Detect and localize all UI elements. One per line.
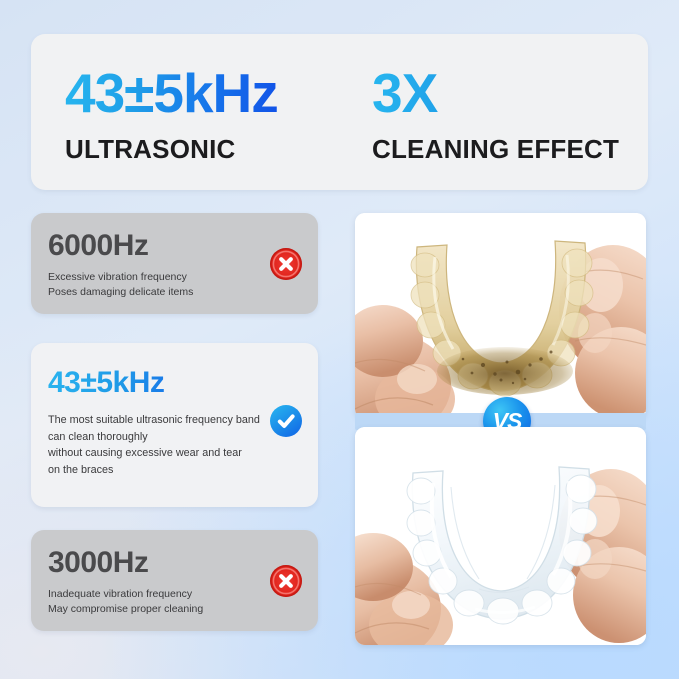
card-title: 43±5kHz [48, 368, 252, 398]
card-title: 6000Hz [48, 231, 252, 261]
card-desc-line: can clean thoroughly [48, 429, 252, 446]
card-desc-line: Excessive vibration frequency [48, 270, 252, 285]
infographic-page: 43±5kHz ULTRASONIC 3X CLEANING EFFECT 60… [0, 0, 679, 679]
card-title: 3000Hz [48, 548, 252, 578]
header-cleaning-value: 3X [372, 66, 619, 121]
card-description: Inadequate vibration frequency May compr… [48, 587, 252, 617]
card-desc-line: on the braces [48, 462, 252, 479]
card-desc-line: The most suitable ultrasonic frequency b… [48, 412, 252, 429]
checkmark-icon [270, 405, 302, 437]
card-content: 3000Hz Inadequate vibration frequency Ma… [48, 530, 252, 617]
card-content: 6000Hz Excessive vibration frequency Pos… [48, 213, 252, 300]
header-stat-ultrasonic: 43±5kHz ULTRASONIC [65, 34, 278, 165]
header-banner: 43±5kHz ULTRASONIC 3X CLEANING EFFECT [31, 34, 648, 190]
card-desc-line: Inadequate vibration frequency [48, 587, 252, 602]
photo-stained-retainer [355, 213, 646, 419]
card-content: 43±5kHz The most suitable ultrasonic fre… [48, 343, 252, 479]
cross-icon [270, 565, 302, 597]
header-ultrasonic-label: ULTRASONIC [65, 134, 278, 165]
frequency-card-43khz: 43±5kHz The most suitable ultrasonic fre… [31, 343, 318, 507]
frequency-card-6000hz: 6000Hz Excessive vibration frequency Pos… [31, 213, 318, 314]
card-desc-line: May compromise proper cleaning [48, 602, 252, 617]
cross-icon [270, 248, 302, 280]
header-stat-cleaning: 3X CLEANING EFFECT [372, 34, 619, 165]
card-desc-line: Poses damaging delicate items [48, 285, 252, 300]
frequency-card-3000hz: 3000Hz Inadequate vibration frequency Ma… [31, 530, 318, 631]
photo-clean-retainer [355, 427, 646, 645]
header-cleaning-label: CLEANING EFFECT [372, 134, 619, 165]
card-description: The most suitable ultrasonic frequency b… [48, 412, 252, 479]
card-description: Excessive vibration frequency Poses dama… [48, 270, 252, 300]
card-desc-line: without causing excessive wear and tear [48, 445, 252, 462]
header-ultrasonic-value: 43±5kHz [65, 66, 278, 121]
